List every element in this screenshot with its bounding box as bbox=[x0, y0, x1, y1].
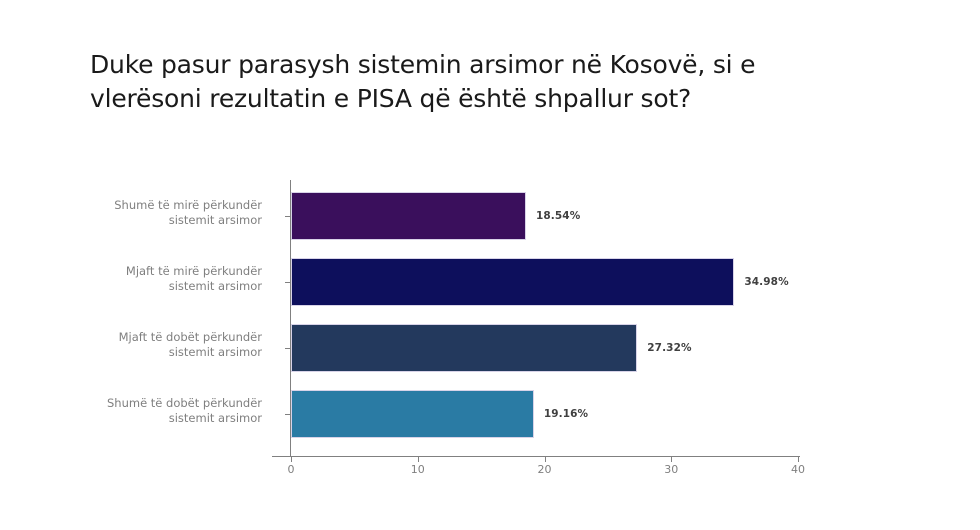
chart-category-row: Mjaft të dobët përkundër sistemit arsimo… bbox=[0, 324, 980, 388]
bar-value-label-1: 34.98% bbox=[744, 276, 788, 288]
slide-canvas: Duke pasur parasysh sistemin arsimor në … bbox=[0, 0, 980, 530]
x-axis-tick-label: 0 bbox=[271, 463, 311, 476]
x-axis-tick-label: 30 bbox=[651, 463, 691, 476]
y-axis-tick bbox=[285, 348, 290, 349]
chart-category-row: Shumë të dobët përkundër sistemit arsimo… bbox=[0, 390, 980, 454]
bar-value-label-0: 18.54% bbox=[536, 210, 580, 222]
bar-value-label-3: 19.16% bbox=[544, 408, 588, 420]
chart-category-row: Shumë të mirë përkundër sistemit arsimor… bbox=[0, 192, 980, 256]
bar-3[interactable] bbox=[291, 390, 534, 438]
chart-plot-area: Shumë të mirë përkundër sistemit arsimor… bbox=[0, 0, 980, 530]
category-label: Mjaft të dobët përkundër sistemit arsimo… bbox=[32, 330, 262, 360]
y-axis-tick bbox=[285, 414, 290, 415]
x-axis-tick-label: 20 bbox=[525, 463, 565, 476]
x-axis-tick bbox=[798, 457, 799, 462]
bar-value-label-2: 27.32% bbox=[647, 342, 691, 354]
category-label: Mjaft të mirë përkundër sistemit arsimor bbox=[32, 264, 262, 294]
x-axis-tick bbox=[291, 457, 292, 462]
bar-1[interactable] bbox=[291, 258, 734, 306]
category-label: Shumë të mirë përkundër sistemit arsimor bbox=[32, 198, 262, 228]
y-axis-tick bbox=[285, 216, 290, 217]
chart-category-row: Mjaft të mirë përkundër sistemit arsimor… bbox=[0, 258, 980, 322]
x-axis-line bbox=[272, 456, 800, 457]
x-axis-tick bbox=[545, 457, 546, 462]
x-axis-tick-label: 40 bbox=[778, 463, 818, 476]
y-axis-tick bbox=[285, 282, 290, 283]
x-axis-tick-label: 10 bbox=[398, 463, 438, 476]
x-axis-tick bbox=[671, 457, 672, 462]
category-label: Shumë të dobët përkundër sistemit arsimo… bbox=[32, 396, 262, 426]
x-axis-tick bbox=[418, 457, 419, 462]
bar-0[interactable] bbox=[291, 192, 526, 240]
bar-2[interactable] bbox=[291, 324, 637, 372]
